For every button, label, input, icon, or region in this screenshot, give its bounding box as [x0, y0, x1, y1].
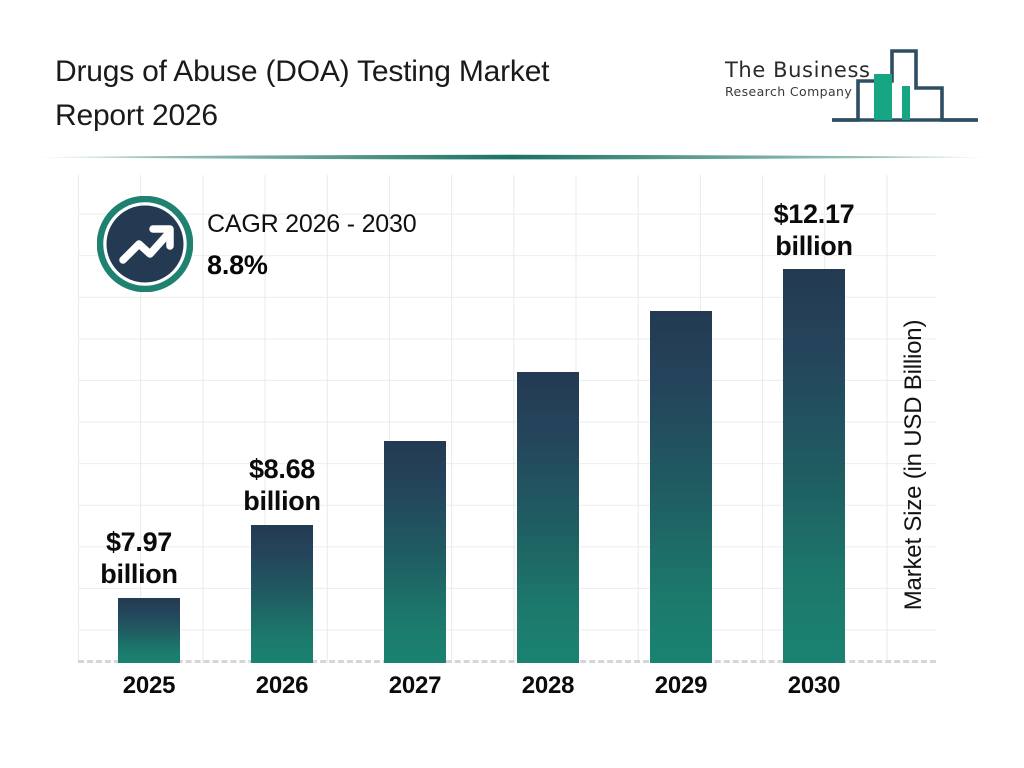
x-tick-2027: 2027 [355, 672, 475, 700]
y-axis-title: Market Size (in USD Billion) [894, 270, 934, 660]
page-title: Drugs of Abuse (DOA) Testing Market Repo… [55, 50, 715, 137]
cagr-badge: CAGR 2026 - 2030 8.8% [97, 196, 497, 296]
x-tick-2025: 2025 [89, 672, 209, 700]
bar-value-label-2030: $12.17 billion [734, 199, 894, 263]
bar-2028 [517, 372, 579, 663]
bar-value-label-2026: $8.68 billion [202, 454, 362, 518]
bar-chart-logo-mark-icon [830, 38, 980, 128]
bar-2029 [650, 311, 712, 663]
y-axis-title-text: Market Size (in USD Billion) [900, 320, 928, 610]
trend-up-arrow-icon [97, 196, 193, 292]
header: Drugs of Abuse (DOA) Testing Market Repo… [0, 0, 1024, 160]
x-tick-2029: 2029 [621, 672, 741, 700]
bar-value-label-2025: $7.97 billion [59, 527, 219, 591]
bar-2027 [384, 441, 446, 663]
x-axis: 2025 2026 2027 2028 2029 2030 [78, 672, 936, 718]
slide-canvas: Drugs of Abuse (DOA) Testing Market Repo… [0, 0, 1024, 768]
cagr-period-label: CAGR 2026 - 2030 [207, 210, 497, 239]
cagr-text-block: CAGR 2026 - 2030 8.8% [207, 210, 497, 280]
company-logo: The Business Research Company [725, 36, 980, 132]
bar-2030 [783, 269, 845, 663]
x-tick-2028: 2028 [488, 672, 608, 700]
x-tick-2026: 2026 [222, 672, 342, 700]
cagr-value-label: 8.8% [207, 251, 497, 281]
bar-2025 [118, 598, 180, 663]
bar-2026 [251, 525, 313, 663]
header-divider [32, 152, 990, 162]
x-tick-2030: 2030 [754, 672, 874, 700]
